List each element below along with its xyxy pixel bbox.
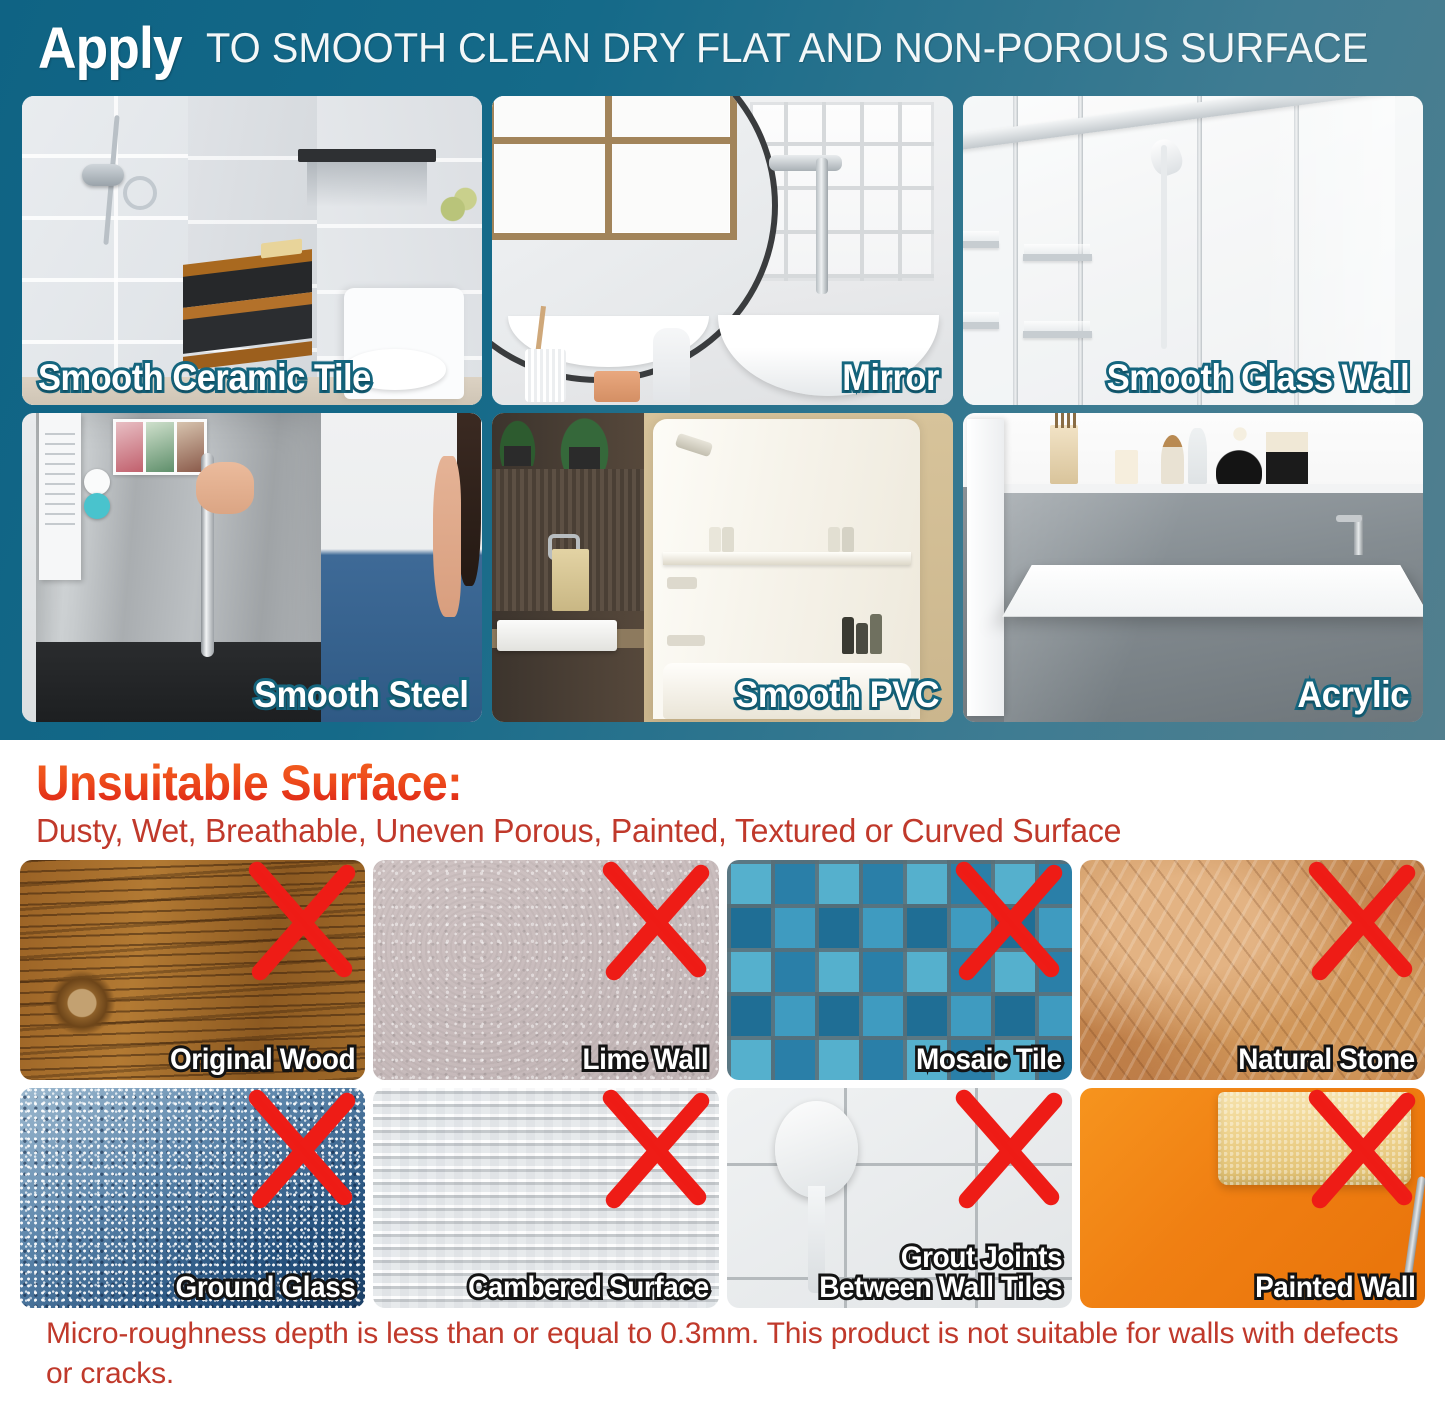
unsuitable-tile-painted-wall: Painted Wall <box>1080 1088 1425 1308</box>
unsuitable-tile-ground-glass: Ground Glass <box>20 1088 365 1308</box>
apply-tile-label: Smooth Glass Wall <box>1107 357 1409 399</box>
apply-tile-label: Smooth PVC <box>735 674 939 716</box>
unsuitable-tile-label: Original Wood <box>170 1045 355 1076</box>
unsuitable-section: Unsuitable Surface: Dusty, Wet, Breathab… <box>0 740 1445 1409</box>
paint-roller-icon <box>1218 1092 1411 1184</box>
apply-heading-rest: TO SMOOTH CLEAN DRY FLAT AND NON-POROUS … <box>206 24 1368 72</box>
apply-tile-label: Smooth Steel <box>254 674 468 716</box>
apply-tile-label: Acrylic <box>1297 674 1409 716</box>
unsuitable-title: Unsuitable Surface: <box>36 756 462 810</box>
unsuitable-tile-mosaic-tile: Mosaic Tile <box>727 860 1072 1080</box>
unsuitable-tile-label: Lime Wall <box>583 1045 709 1076</box>
unsuitable-tile-label-line2: Between Wall Tiles <box>819 1271 1062 1304</box>
apply-tile-mirror: Mirror <box>492 96 952 405</box>
unsuitable-tile-label: Ground Glass <box>175 1273 355 1304</box>
footnote-text: Micro-roughness depth is less than or eq… <box>14 1308 1431 1394</box>
apply-tile-acrylic: Acrylic <box>963 413 1423 722</box>
apply-section: Apply TO SMOOTH CLEAN DRY FLAT AND NON-P… <box>0 0 1445 740</box>
apply-tile-smooth-glass-wall: Smooth Glass Wall <box>963 96 1423 405</box>
apply-heading: Apply TO SMOOTH CLEAN DRY FLAT AND NON-P… <box>12 0 1433 96</box>
apply-tile-smooth-pvc: Smooth PVC <box>492 413 952 722</box>
unsuitable-tile-label: Grout Joints Between Wall Tiles <box>819 1243 1062 1304</box>
unsuitable-tile-grid: Original Wood Lime Wall Mosaic Tile <box>14 860 1431 1308</box>
unsuitable-tile-label: Painted Wall <box>1255 1273 1415 1304</box>
unsuitable-tile-label: Natural Stone <box>1238 1045 1415 1076</box>
apply-heading-strong: Apply <box>38 15 182 82</box>
suction-hook-icon <box>775 1101 858 1198</box>
apply-tile-label: Smooth Ceramic Tile <box>38 357 371 399</box>
unsuitable-tile-label: Mosaic Tile <box>916 1045 1062 1076</box>
unsuitable-tile-grout-joints: Grout Joints Between Wall Tiles <box>727 1088 1072 1308</box>
unsuitable-tile-natural-stone: Natural Stone <box>1080 860 1425 1080</box>
apply-tile-smooth-steel: Smooth Steel <box>22 413 482 722</box>
apply-tile-label: Mirror <box>842 357 939 399</box>
unsuitable-tile-label: Cambered Surface <box>468 1273 709 1304</box>
unsuitable-tile-lime-wall: Lime Wall <box>373 860 718 1080</box>
unsuitable-tile-original-wood: Original Wood <box>20 860 365 1080</box>
unsuitable-subtitle: Dusty, Wet, Breathable, Uneven Porous, P… <box>36 812 1389 850</box>
unsuitable-tile-label-line1: Grout Joints <box>900 1241 1061 1274</box>
apply-tile-smooth-ceramic-tile: Smooth Ceramic Tile <box>22 96 482 405</box>
unsuitable-tile-cambered-surface: Cambered Surface <box>373 1088 718 1308</box>
apply-tile-grid: Smooth Ceramic Tile Mirror <box>12 96 1433 722</box>
